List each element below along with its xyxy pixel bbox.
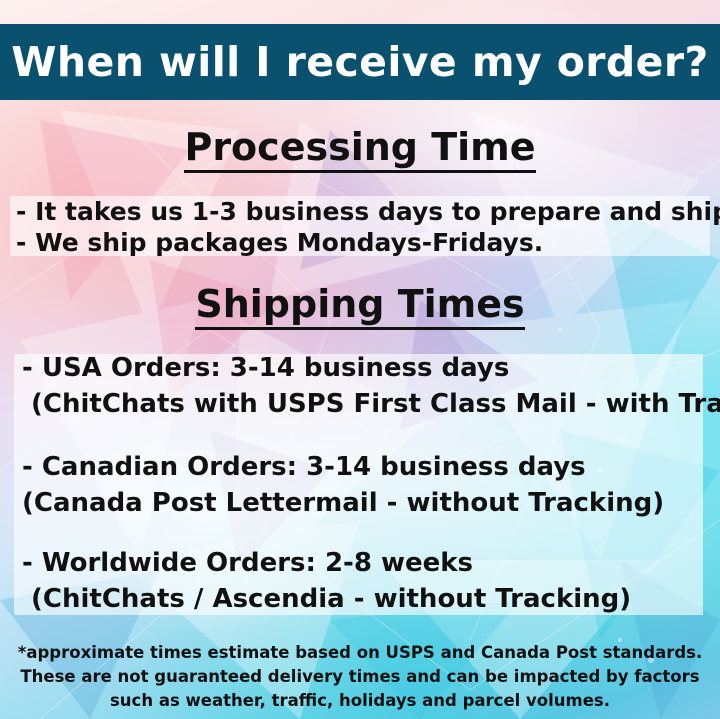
shipping-group-worldwide-main: - Worldwide Orders: 2-8 weeks	[22, 545, 631, 581]
shipping-group-canada-main: - Canadian Orders: 3-14 business days	[22, 449, 664, 485]
content-area: Processing Time - It takes us 1-3 busine…	[0, 0, 720, 719]
footnote-line-1: *approximate times estimate based on USP…	[0, 641, 720, 665]
footnote-disclaimer: *approximate times estimate based on USP…	[0, 641, 720, 713]
shipping-group-usa: - USA Orders: 3-14 business days (ChitCh…	[22, 350, 720, 422]
footnote-line-3: such as weather, traffic, holidays and p…	[0, 689, 720, 713]
shipping-group-usa-sub: (ChitChats with USPS First Class Mail - …	[22, 386, 720, 422]
shipping-group-worldwide: - Worldwide Orders: 2-8 weeks (ChitChats…	[22, 545, 631, 617]
section-heading-processing-time-label: Processing Time	[184, 125, 535, 173]
section-heading-processing-time: Processing Time	[0, 125, 720, 173]
shipping-group-canada: - Canadian Orders: 3-14 business days (C…	[22, 449, 664, 521]
shipping-faq-infographic: When will I receive my order? Processing…	[0, 0, 720, 719]
processing-time-line-1: - It takes us 1-3 business days to prepa…	[16, 196, 720, 227]
processing-time-line-2: - We ship packages Mondays-Fridays.	[16, 227, 720, 258]
section-heading-shipping-times: Shipping Times	[0, 282, 720, 330]
shipping-group-usa-main: - USA Orders: 3-14 business days	[22, 350, 720, 386]
shipping-group-canada-sub: (Canada Post Lettermail - without Tracki…	[22, 485, 664, 521]
shipping-group-worldwide-sub: (ChitChats / Ascendia - without Tracking…	[22, 581, 631, 617]
footnote-line-2: These are not guaranteed delivery times …	[0, 665, 720, 689]
section-heading-shipping-times-label: Shipping Times	[195, 282, 524, 330]
processing-time-lines: - It takes us 1-3 business days to prepa…	[16, 196, 720, 258]
